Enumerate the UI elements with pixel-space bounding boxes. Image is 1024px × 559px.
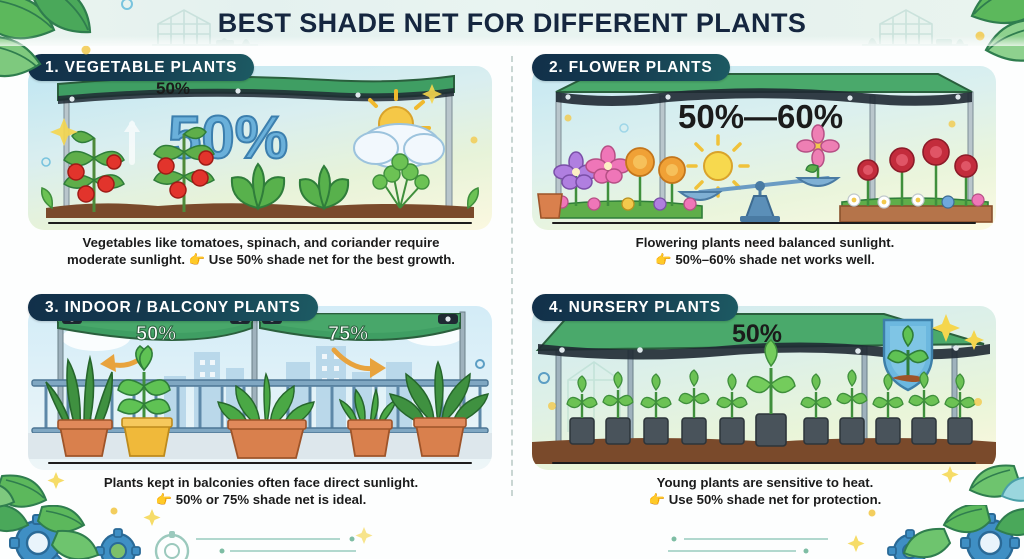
net-label-right-3: 75% [328, 323, 368, 345]
bottom-decoration [0, 505, 1024, 559]
page-title: BEST SHADE NET FOR DIFFERENT PLANTS [0, 0, 1024, 46]
net-label-1: 50% [156, 79, 190, 98]
caption-line-2: 👉 50%–60% shade net works well. [534, 251, 996, 268]
infographic-page: BEST SHADE NET FOR DIFFERENT PLANTS 1. [0, 0, 1024, 559]
badge-indoor-balcony-plants: 3. INDOOR / BALCONY PLANTS [28, 294, 318, 321]
badge-flower-plants: 2. FLOWER PLANTS [532, 54, 730, 81]
illustration-flower-plants: 50%—60% [532, 66, 996, 230]
balance-scale-icon [680, 178, 838, 222]
vertical-divider [511, 56, 513, 496]
badge-nursery-plants: 4. NURSERY PLANTS [532, 294, 738, 321]
caption-line-2: moderate sunlight. 👉 Use 50% shade net f… [30, 251, 492, 268]
curved-arrow-right-head [370, 358, 386, 378]
ground-line [48, 222, 472, 224]
leaves-decoration [0, 470, 106, 530]
caption-line-1: Vegetables like tomatoes, spinach, and c… [30, 234, 492, 251]
illustration-nursery-plants: 50% [532, 306, 996, 470]
ground-line [552, 462, 976, 464]
ground-line [48, 462, 472, 464]
curved-arrow-left-head [100, 354, 116, 372]
ground-line [552, 222, 976, 224]
leaves-decoration [920, 462, 1024, 522]
caption-flower-plants: Flowering plants need balanced sunlight.… [534, 234, 996, 268]
caption-vegetable-plants: Vegetables like tomatoes, spinach, and c… [30, 234, 492, 268]
net-label-left-3: 50% [136, 323, 176, 345]
caption-line-1: Flowering plants need balanced sunlight. [534, 234, 996, 251]
big-percent-1: 50% [168, 104, 288, 171]
illustration-indoor-balcony-plants: 50% 75% [28, 306, 492, 470]
